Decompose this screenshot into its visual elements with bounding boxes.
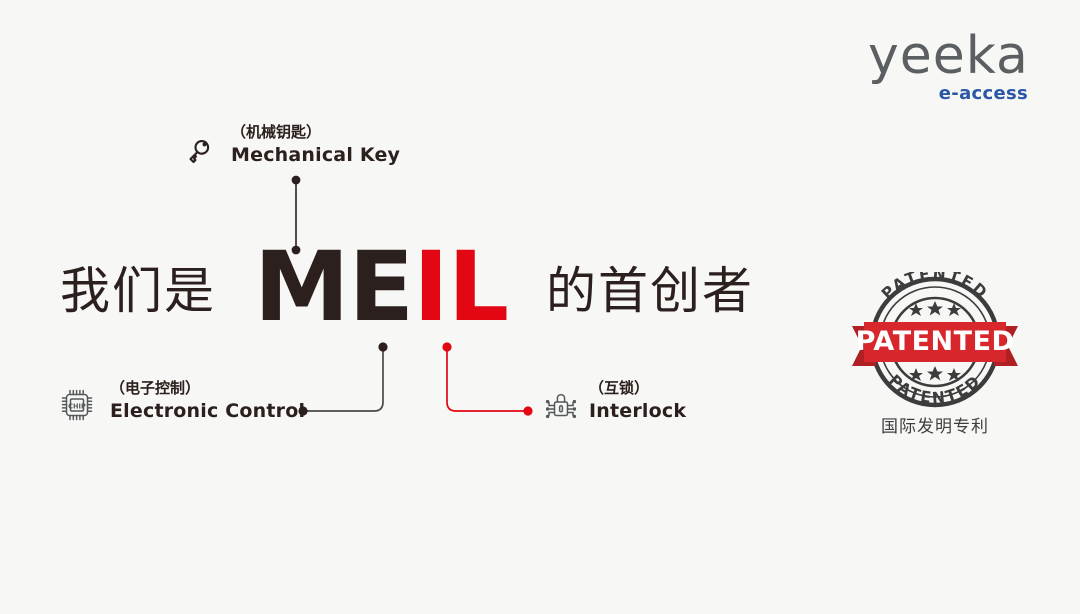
patent-ribbon: PATENTED <box>852 322 1018 366</box>
connector-interlock <box>442 342 532 415</box>
headline-prefix: 我们是 <box>60 266 216 316</box>
brand-tagline: e-access <box>868 83 1028 104</box>
callout-interlock: （互锁） Interlock <box>589 378 686 424</box>
chip-icon-text: CHIP <box>68 402 86 410</box>
brand-logo: yeeka e-access <box>868 28 1028 110</box>
acronym-red-part: IL <box>413 231 508 343</box>
padlock-circuit-icon <box>541 386 581 424</box>
patent-ribbon-text: PATENTED <box>856 326 1015 357</box>
callout-chip-en: Electronic Control <box>110 399 305 424</box>
patent-caption: 国际发明专利 <box>842 412 1028 437</box>
chip-icon: CHIP <box>58 386 96 424</box>
headline-acronym: MEIL <box>254 239 508 335</box>
callout-lock-en: Interlock <box>589 399 686 424</box>
acronym-dark-part: ME <box>254 231 413 343</box>
callout-key-cn: （机械钥匙） <box>231 122 400 143</box>
callout-mechanical-key: （机械钥匙） Mechanical Key <box>231 122 400 168</box>
slide-canvas: yeeka e-access 我们是 MEIL 的首创者 <box>0 0 1080 614</box>
brand-wordmark: yeeka <box>868 28 1028 84</box>
key-icon <box>184 130 220 166</box>
connector-electronic-control <box>298 342 387 415</box>
headline-suffix: 的首创者 <box>546 266 754 316</box>
patent-badge: PATENTED PATENTED <box>842 272 1028 412</box>
callout-key-en: Mechanical Key <box>231 143 400 168</box>
callout-electronic-control: （电子控制） Electronic Control <box>110 378 305 424</box>
callout-lock-cn: （互锁） <box>589 378 686 399</box>
headline: 我们是 MEIL 的首创者 <box>60 248 754 334</box>
callout-chip-cn: （电子控制） <box>110 378 305 399</box>
